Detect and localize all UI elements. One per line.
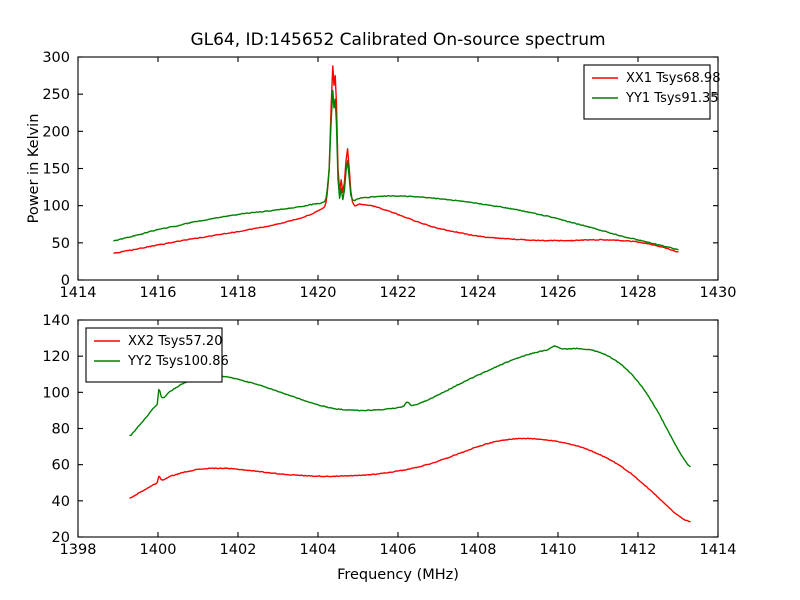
x-tick-label: 1402: [220, 542, 257, 558]
legend-label: XX1 Tsys68.98: [626, 71, 720, 86]
legend-label: XX2 Tsys57.20: [128, 334, 222, 349]
x-tick-label: 1430: [700, 285, 737, 301]
y-tick-label: 150: [42, 162, 70, 178]
y-tick-label: 100: [42, 199, 70, 215]
x-tick-label: 1410: [540, 542, 577, 558]
panel-bottom-panel: 1398140014021404140614081410141214142040…: [42, 313, 736, 583]
x-tick-label: 1426: [540, 285, 577, 301]
x-tick-label: 1416: [140, 285, 177, 301]
x-tick-label: 1408: [460, 542, 497, 558]
figure-canvas: 1414141614181420142214241426142814300501…: [0, 0, 800, 600]
y-tick-label: 300: [42, 50, 70, 66]
x-tick-label: 1424: [460, 285, 497, 301]
y-tick-label: 250: [42, 87, 70, 103]
x-tick-label: 1406: [380, 542, 417, 558]
legend-bottom-panel: XX2 Tsys57.20YY2 Tsys100.86: [86, 328, 229, 382]
legend-label: YY2 Tsys100.86: [127, 354, 229, 369]
y-tick-label: 50: [52, 236, 70, 252]
x-tick-label: 1418: [220, 285, 257, 301]
y-tick-label: 20: [52, 530, 70, 546]
y-tick-label: 40: [52, 494, 70, 510]
y-tick-label: 200: [42, 124, 70, 140]
y-axis-label: Power in Kelvin: [26, 114, 42, 224]
x-axis-label: Frequency (MHz): [337, 567, 459, 583]
y-tick-label: 0: [61, 273, 70, 289]
x-tick-label: 1422: [380, 285, 417, 301]
x-tick-label: 1420: [300, 285, 337, 301]
x-tick-label: 1404: [300, 542, 337, 558]
x-tick-label: 1428: [620, 285, 657, 301]
y-tick-label: 140: [42, 313, 70, 329]
y-tick-label: 120: [42, 349, 70, 365]
series-line-xx2: [130, 438, 690, 522]
x-tick-label: 1400: [140, 542, 177, 558]
x-tick-label: 1414: [700, 542, 737, 558]
x-tick-label: 1412: [620, 542, 657, 558]
y-tick-label: 100: [42, 385, 70, 401]
spectrum-figure: 1414141614181420142214241426142814300501…: [0, 0, 800, 600]
panel-top-panel: 1414141614181420142214241426142814300501…: [26, 30, 736, 301]
legend-label: YY1 Tsys91.35: [625, 91, 719, 106]
y-tick-label: 80: [52, 422, 70, 438]
legend-top-panel: XX1 Tsys68.98YY1 Tsys91.35: [584, 65, 720, 119]
plot-title: GL64, ID:145652 Calibrated On-source spe…: [190, 30, 605, 50]
y-tick-label: 60: [52, 458, 70, 474]
